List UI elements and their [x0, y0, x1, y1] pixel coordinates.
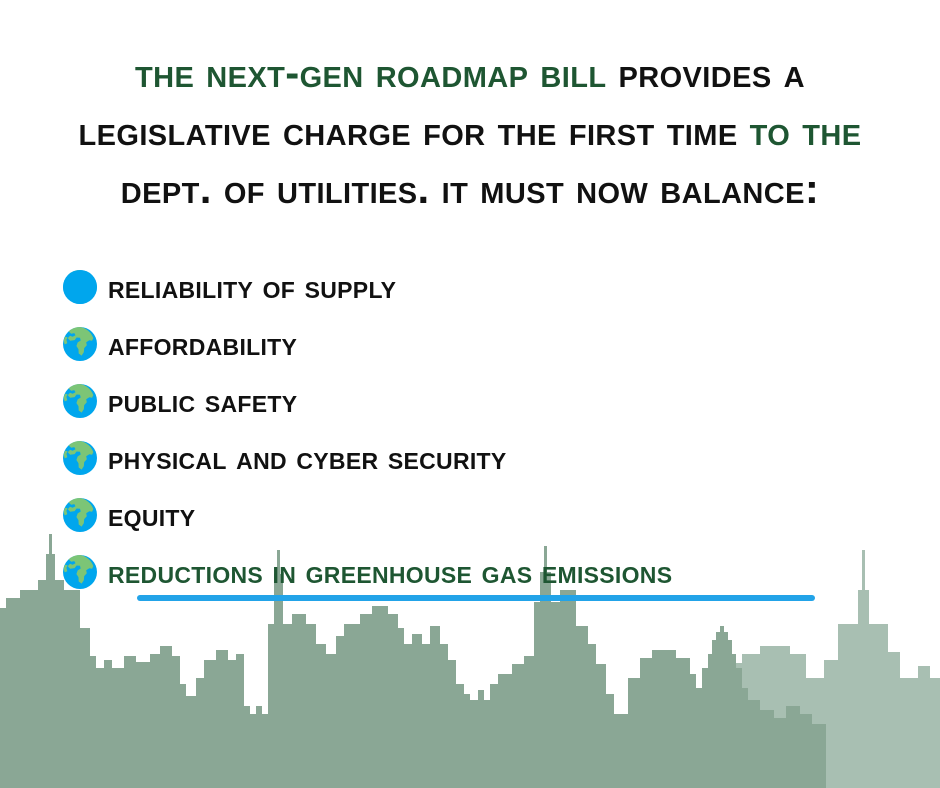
balance-criteria-list: Reliability of supply Affordability: [60, 258, 920, 600]
heading-line-1-green: The Next-Gen Roadmap bill: [135, 49, 606, 96]
globe-icon: [60, 381, 100, 421]
list-item: Reductions in greenhouse gas emissions: [60, 543, 920, 600]
list-item: Reliability of supply: [60, 258, 920, 315]
globe-icon: [60, 552, 100, 592]
heading-line-3: Dept. of Utilities. It must now balance:: [38, 160, 902, 218]
heading-line-1-black: Provides A: [606, 49, 805, 96]
list-item-label: Physical and cyber security: [108, 440, 507, 476]
list-item-label: Reductions in greenhouse gas emissions: [108, 554, 672, 590]
globe-icon: [60, 438, 100, 478]
heading-line-2-black: legislative charge for the first time: [79, 107, 750, 154]
heading-line-2: legislative charge for the first time to…: [38, 102, 902, 160]
list-item-label: Affordability: [108, 326, 297, 362]
globe-icon: [60, 267, 100, 307]
heading-line-2-green: to the: [750, 107, 862, 154]
list-item-label: Equity: [108, 497, 195, 533]
list-item: Equity: [60, 486, 920, 543]
list-item: Physical and cyber security: [60, 429, 920, 486]
list-item: Public safety: [60, 372, 920, 429]
accent-underline: [137, 595, 815, 601]
heading-line-1: The Next-Gen Roadmap bill Provides A: [38, 44, 902, 102]
page-title: The Next-Gen Roadmap bill Provides A leg…: [38, 44, 902, 218]
list-item-label: Reliability of supply: [108, 269, 396, 305]
list-item: Affordability: [60, 315, 920, 372]
globe-icon: [60, 324, 100, 364]
list-item-label: Public safety: [108, 383, 297, 419]
slide-canvas: The Next-Gen Roadmap bill Provides A leg…: [0, 0, 940, 788]
heading-line-3-black: Dept. of Utilities. It must now balance:: [121, 165, 819, 212]
globe-icon: [60, 495, 100, 535]
